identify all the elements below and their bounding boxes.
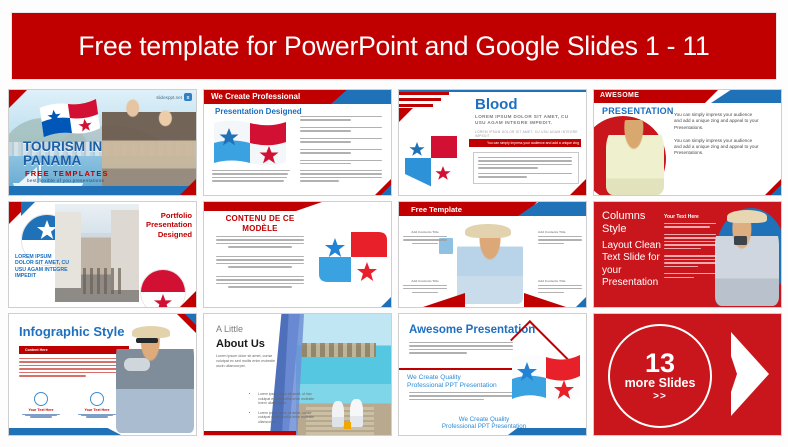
slide-thumbnail-awesome-presentation-quality[interactable]: Awesome Presentation We Create Quality P… — [398, 313, 587, 436]
slide9-bottom-bar — [9, 428, 121, 435]
slide-thumbnail-blood[interactable]: Blood LOREM IPSUM DOLOR SIT AMET, CU USU… — [398, 89, 587, 196]
slide5-title-line2: Presentation — [130, 220, 192, 229]
slide7-title: Free Template — [411, 205, 462, 214]
slide-thumbnail-infographic-style[interactable]: Infographic Style Content Here Your Text… — [8, 313, 197, 436]
slide2-bullet-list — [300, 116, 382, 166]
slide-thumbnail-we-create-professional[interactable]: We Create Professional Presentation Desi… — [203, 89, 392, 196]
slide-thumbnail-tourism-in-panama[interactable]: slidesppt.net S TOURISM IN PANAMA FREE T… — [8, 89, 197, 196]
slide7-label-2: Add Contents Title — [538, 230, 582, 234]
hat-shape — [727, 210, 767, 223]
slide9-red-bar: Content Here — [19, 346, 129, 354]
slide1-subtitle: FREE TEMPLATES — [25, 169, 109, 178]
slide2-title-line2: Presentation Designed — [215, 107, 302, 116]
slide11-footer: We Create Quality Professional PPT Prese… — [441, 416, 527, 431]
more-slides-count: 13 — [645, 350, 675, 376]
slide9-body-text — [19, 358, 127, 379]
watermark-text: slidesppt.net — [156, 95, 182, 100]
corner-triangle-blue-icon — [185, 314, 196, 325]
panama-flag-rounded-icon — [315, 230, 387, 292]
slide5-title-line1: Portfolio — [130, 211, 192, 220]
item-2-title: Your Text Here — [75, 408, 119, 412]
slide8-title-line1: Columns — [602, 210, 645, 223]
infographic-item-1[interactable]: Your Text Here — [19, 392, 63, 418]
sunglasses-icon — [136, 338, 158, 343]
slide6-paragraph-2 — [216, 256, 304, 270]
slide6-paragraph-3 — [216, 276, 304, 290]
slide7-label-1: Add Contents Title — [403, 230, 447, 234]
slide10-red-bottom-bar — [204, 431, 296, 435]
slide10-title-line1: A Little — [216, 324, 243, 334]
header-banner: Free template for PowerPoint and Google … — [12, 13, 776, 79]
slide5-lorem-text: LOREM IPSUM DOLOR SIT AMET, CU USU AGAM … — [15, 254, 69, 280]
slide11-blue-bottom-bar — [508, 428, 586, 435]
corner-triangle-red-br-icon — [570, 179, 586, 195]
slide1-tagline: best flexible of you presentations — [27, 178, 104, 183]
page-title: Free template for PowerPoint and Google … — [78, 31, 709, 62]
slides-row-3: Infographic Style Content Here Your Text… — [8, 313, 782, 435]
slide3-subtitle: LOREM IPSUM DOLOR SIT AMET, CU USU AGAM … — [475, 114, 571, 126]
slide11-subtitle-line2: Professional PPT Presentation — [407, 382, 497, 390]
slide9-title: Infographic Style — [19, 324, 124, 339]
panama-flag-icon — [39, 96, 102, 142]
slide8-column-head: Your Text Here — [664, 214, 716, 220]
slide1-title: TOURISM IN PANAMA — [23, 140, 102, 168]
slide-thumbnail-about-us[interactable]: A Little About Us Lorem ipsum dolor sit … — [203, 313, 392, 436]
slide-thumbnail-columns-style[interactable]: Columns Style Layout Clean Text Slide fo… — [593, 201, 782, 308]
slide2-body-text — [212, 170, 290, 184]
slide10-title-line2: About Us — [216, 338, 265, 350]
slide8-column-text: Your Text Here — [664, 214, 716, 280]
top-blue-rule — [399, 90, 586, 92]
infographic-item-2[interactable]: Your Text Here — [75, 392, 119, 418]
red-top-slant — [204, 202, 322, 211]
slide7-label-4: Add Contents Title — [538, 279, 582, 283]
slide6-title: CONTENU DE CE MODÈLE — [214, 214, 306, 233]
arrow-notch-icon — [723, 332, 737, 416]
slide11-footer-line1: We Create Quality — [441, 416, 527, 424]
panama-flag-icon — [212, 118, 288, 173]
woman-photo — [606, 120, 664, 195]
circle-icon — [34, 392, 48, 406]
slide3-text-box — [473, 152, 579, 184]
woman-with-camera-photo — [715, 214, 779, 306]
corner-triangle-blue-br-icon — [771, 185, 781, 195]
watermark-badge-icon: S — [184, 93, 192, 101]
slide4-title-line1: AWESOME — [600, 92, 639, 99]
red-bottom-left-wedge — [423, 293, 465, 307]
slide11-red-rule — [399, 368, 519, 370]
slide6-title-line2: MODÈLE — [214, 224, 306, 234]
slide-thumbnail-more-slides[interactable]: 13 more Slides >> — [593, 313, 782, 436]
slide1-title-line1: TOURISM IN — [23, 140, 102, 154]
slide8-title-line2: Style — [602, 223, 645, 236]
more-slides-label: more Slides — [625, 376, 696, 390]
slide2-title-line1: We Create Professional — [211, 92, 300, 101]
camera-icon — [734, 236, 747, 245]
slide11-body-text — [409, 342, 513, 356]
bullet-item-2: Lorem ipsum dolor sit amet, conse volutp… — [258, 411, 316, 425]
street-photo — [55, 204, 139, 302]
slide7-label-3-group: Add Contents Title — [403, 279, 447, 295]
slide11-footer-line2: Professional PPT Presentation — [441, 423, 527, 431]
circle-icon — [90, 392, 104, 406]
corner-triangle-red-br-icon — [180, 291, 196, 307]
blue-header-wedge — [711, 90, 781, 103]
slide7-label-3: Add Contents Title — [403, 279, 447, 283]
slide11-subtitle: We Create Quality Professional PPT Prese… — [407, 374, 497, 390]
corner-triangle-blue-br-icon — [381, 185, 391, 195]
bullet-item-1: Lorem ipsum dolor sit amet, ut hac volut… — [258, 392, 316, 406]
slide3-title: Blood — [475, 96, 518, 113]
slide1-title-line2: PANAMA — [23, 154, 102, 168]
slide5-title-line3: Designed — [130, 230, 192, 239]
more-slides-circle: 13 more Slides >> — [608, 324, 712, 428]
slide1-bottom-bar — [9, 186, 196, 195]
slide4-body: You can simply impress your audience and… — [674, 112, 760, 164]
panama-flag-ribbon-icon — [405, 136, 457, 192]
slide5-title: Portfolio Presentation Designed — [130, 211, 192, 239]
watermark: slidesppt.net S — [156, 93, 192, 101]
panama-flag-icon — [510, 350, 582, 408]
slide6-paragraph-1 — [216, 236, 304, 250]
red-bottom-right-wedge — [524, 293, 566, 307]
slides-row-1: slidesppt.net S TOURISM IN PANAMA FREE T… — [8, 89, 782, 194]
slide4-title-line2: PRESENTATION — [602, 106, 674, 116]
slide7-label-4-group: Add Contents Title — [538, 279, 582, 295]
corner-triangle-blue-br-icon — [576, 297, 586, 307]
sleeping-mat-icon — [124, 358, 150, 371]
slide11-body-text-2 — [409, 392, 513, 402]
hat-shape — [465, 224, 511, 238]
slide10-bullet-list: Lorem ipsum dolor sit amet, ut hac volut… — [218, 392, 316, 430]
slides-grid: slidesppt.net S TOURISM IN PANAMA FREE T… — [8, 89, 782, 437]
slide7-label-2-group: Add Contents Title — [538, 230, 582, 246]
slide-thumbnail-contenu-de-ce-modele[interactable]: CONTENU DE CE MODÈLE — [203, 201, 392, 308]
slide7-label-1-group: Add Contents Title — [403, 230, 447, 246]
slide6-title-line1: CONTENU DE CE — [214, 214, 306, 224]
slide4-paragraph-1: You can simply impress your audience and… — [674, 112, 760, 131]
slide-thumbnail-portfolio-presentation[interactable]: Portfolio Presentation Designed LOREM IP… — [8, 201, 197, 308]
slide8-subtitle: Layout Clean Text Slide for your Present… — [602, 240, 664, 290]
item-1-title: Your Text Here — [19, 408, 63, 412]
corner-triangle-blue-br-icon — [381, 297, 391, 307]
slide-thumbnail-awesome-presentation[interactable]: AWESOME PRESENTATION You can simply impr… — [593, 89, 782, 196]
backpacker-photo — [116, 328, 194, 433]
template-preview-page: Free template for PowerPoint and Google … — [0, 0, 788, 447]
hat-shape — [132, 326, 170, 338]
double-chevron-icon: >> — [653, 390, 667, 403]
slides-row-2: Portfolio Presentation Designed LOREM IP… — [8, 201, 782, 306]
slide3-caption: LOREM IPSUM DOLOR SIT AMET, CU USU AGAM … — [475, 130, 586, 138]
slide3-red-banner: You can simply impress your audience and… — [469, 139, 581, 147]
red-stripes-decoration — [399, 90, 451, 120]
corner-triangle-red-br-icon — [180, 179, 196, 195]
slide2-footnote — [300, 170, 382, 184]
slide4-paragraph-2: You can simply impress your audience and… — [674, 138, 760, 157]
slide-thumbnail-free-template[interactable]: Free Template Add Contents Title Add Con… — [398, 201, 587, 308]
slide10-paragraph: Lorem ipsum dolor sit amet, conse volutp… — [216, 354, 276, 369]
slide9-bar-label: Content Here — [19, 346, 129, 354]
slide10-body: Lorem ipsum dolor sit amet, conse volutp… — [216, 354, 276, 374]
slide11-subtitle-line1: We Create Quality — [407, 374, 497, 382]
corner-triangle-blue-icon — [21, 202, 35, 216]
slide8-title: Columns Style — [602, 210, 645, 236]
corner-triangle-red-icon — [9, 90, 27, 108]
